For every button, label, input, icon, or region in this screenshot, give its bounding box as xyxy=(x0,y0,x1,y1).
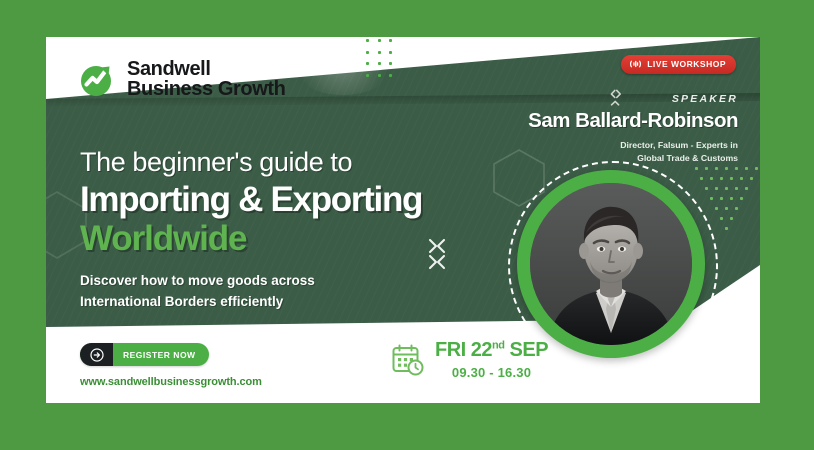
dot xyxy=(735,207,738,210)
collapse-arrows-icon xyxy=(417,235,457,278)
dot xyxy=(730,177,733,180)
dot xyxy=(710,177,713,180)
broadcast-icon xyxy=(629,59,642,69)
dot xyxy=(755,167,758,170)
dot xyxy=(725,167,728,170)
brand-name-line2: Business Growth xyxy=(127,79,285,99)
event-date-block: FRI 22nd SEP 09.30 - 16.30 xyxy=(391,340,548,380)
speaker-role-line1: Director, Falsum - Experts in xyxy=(528,139,738,152)
dot xyxy=(378,74,381,77)
event-date: FRI 22nd SEP xyxy=(435,340,548,360)
event-date-text: FRI 22nd SEP 09.30 - 16.30 xyxy=(435,340,548,380)
event-date-ordinal: nd xyxy=(492,339,504,351)
subtitle-line1: Discover how to move goods across xyxy=(80,271,422,291)
dot xyxy=(705,187,708,190)
subtitle-line2: International Borders efficiently xyxy=(80,292,422,312)
headline-subtitle: Discover how to move goods across Intern… xyxy=(80,271,422,312)
avatar xyxy=(530,183,692,345)
dot xyxy=(715,167,718,170)
headline-accent: Worldwide xyxy=(80,219,422,258)
dot xyxy=(366,74,369,77)
dot xyxy=(725,227,728,230)
dot xyxy=(389,39,392,42)
headline-block: The beginner's guide to Importing & Expo… xyxy=(80,147,422,312)
live-workshop-label: LIVE WORKSHOP xyxy=(647,59,726,69)
collapse-arrows-icon xyxy=(602,87,628,116)
dot xyxy=(745,167,748,170)
headline-main: Importing & Exporting xyxy=(80,180,422,219)
poster-card: Sandwell Business Growth LIVE WORKSHOP S… xyxy=(46,37,760,403)
event-date-day: FRI 22 xyxy=(435,339,492,361)
dot xyxy=(720,177,723,180)
dot xyxy=(725,187,728,190)
dot xyxy=(389,62,392,65)
dot xyxy=(366,62,369,65)
dot xyxy=(740,177,743,180)
register-now-button[interactable]: REGISTER NOW xyxy=(80,343,209,366)
register-now-label: REGISTER NOW xyxy=(113,350,209,360)
brand-logo[interactable]: Sandwell Business Growth xyxy=(78,59,285,100)
dot xyxy=(730,217,733,220)
dot xyxy=(378,39,381,42)
website-link[interactable]: www.sandwellbusinessgrowth.com xyxy=(80,376,262,388)
headline-pre: The beginner's guide to xyxy=(80,147,422,178)
dot xyxy=(715,207,718,210)
speaker-block: SPEAKER Sam Ballard-Robinson Director, F… xyxy=(528,93,738,164)
dot xyxy=(378,62,381,65)
arrow-right-icon xyxy=(80,343,113,366)
dot xyxy=(720,217,723,220)
dot xyxy=(710,197,713,200)
brand-logo-text: Sandwell Business Growth xyxy=(127,59,285,100)
dot xyxy=(366,39,369,42)
dot xyxy=(366,51,369,54)
speaker-name: Sam Ballard-Robinson xyxy=(528,109,738,133)
brand-name-line1: Sandwell xyxy=(127,59,285,79)
speaker-kicker: SPEAKER xyxy=(528,93,738,105)
dot xyxy=(715,187,718,190)
dot xyxy=(735,187,738,190)
dot xyxy=(720,197,723,200)
dot xyxy=(725,207,728,210)
dot xyxy=(378,51,381,54)
poster-root: Sandwell Business Growth LIVE WORKSHOP S… xyxy=(0,0,814,450)
dot xyxy=(745,187,748,190)
dot xyxy=(389,74,392,77)
dot xyxy=(389,51,392,54)
speaker-photo xyxy=(517,170,705,358)
dot xyxy=(750,177,753,180)
dot xyxy=(735,167,738,170)
dot xyxy=(730,197,733,200)
growth-arrow-icon xyxy=(78,59,118,99)
dot xyxy=(705,167,708,170)
event-date-month: SEP xyxy=(510,339,549,361)
dot xyxy=(740,197,743,200)
event-time: 09.30 - 16.30 xyxy=(435,365,548,380)
calendar-clock-icon xyxy=(391,343,425,377)
live-workshop-badge[interactable]: LIVE WORKSHOP xyxy=(621,55,736,74)
